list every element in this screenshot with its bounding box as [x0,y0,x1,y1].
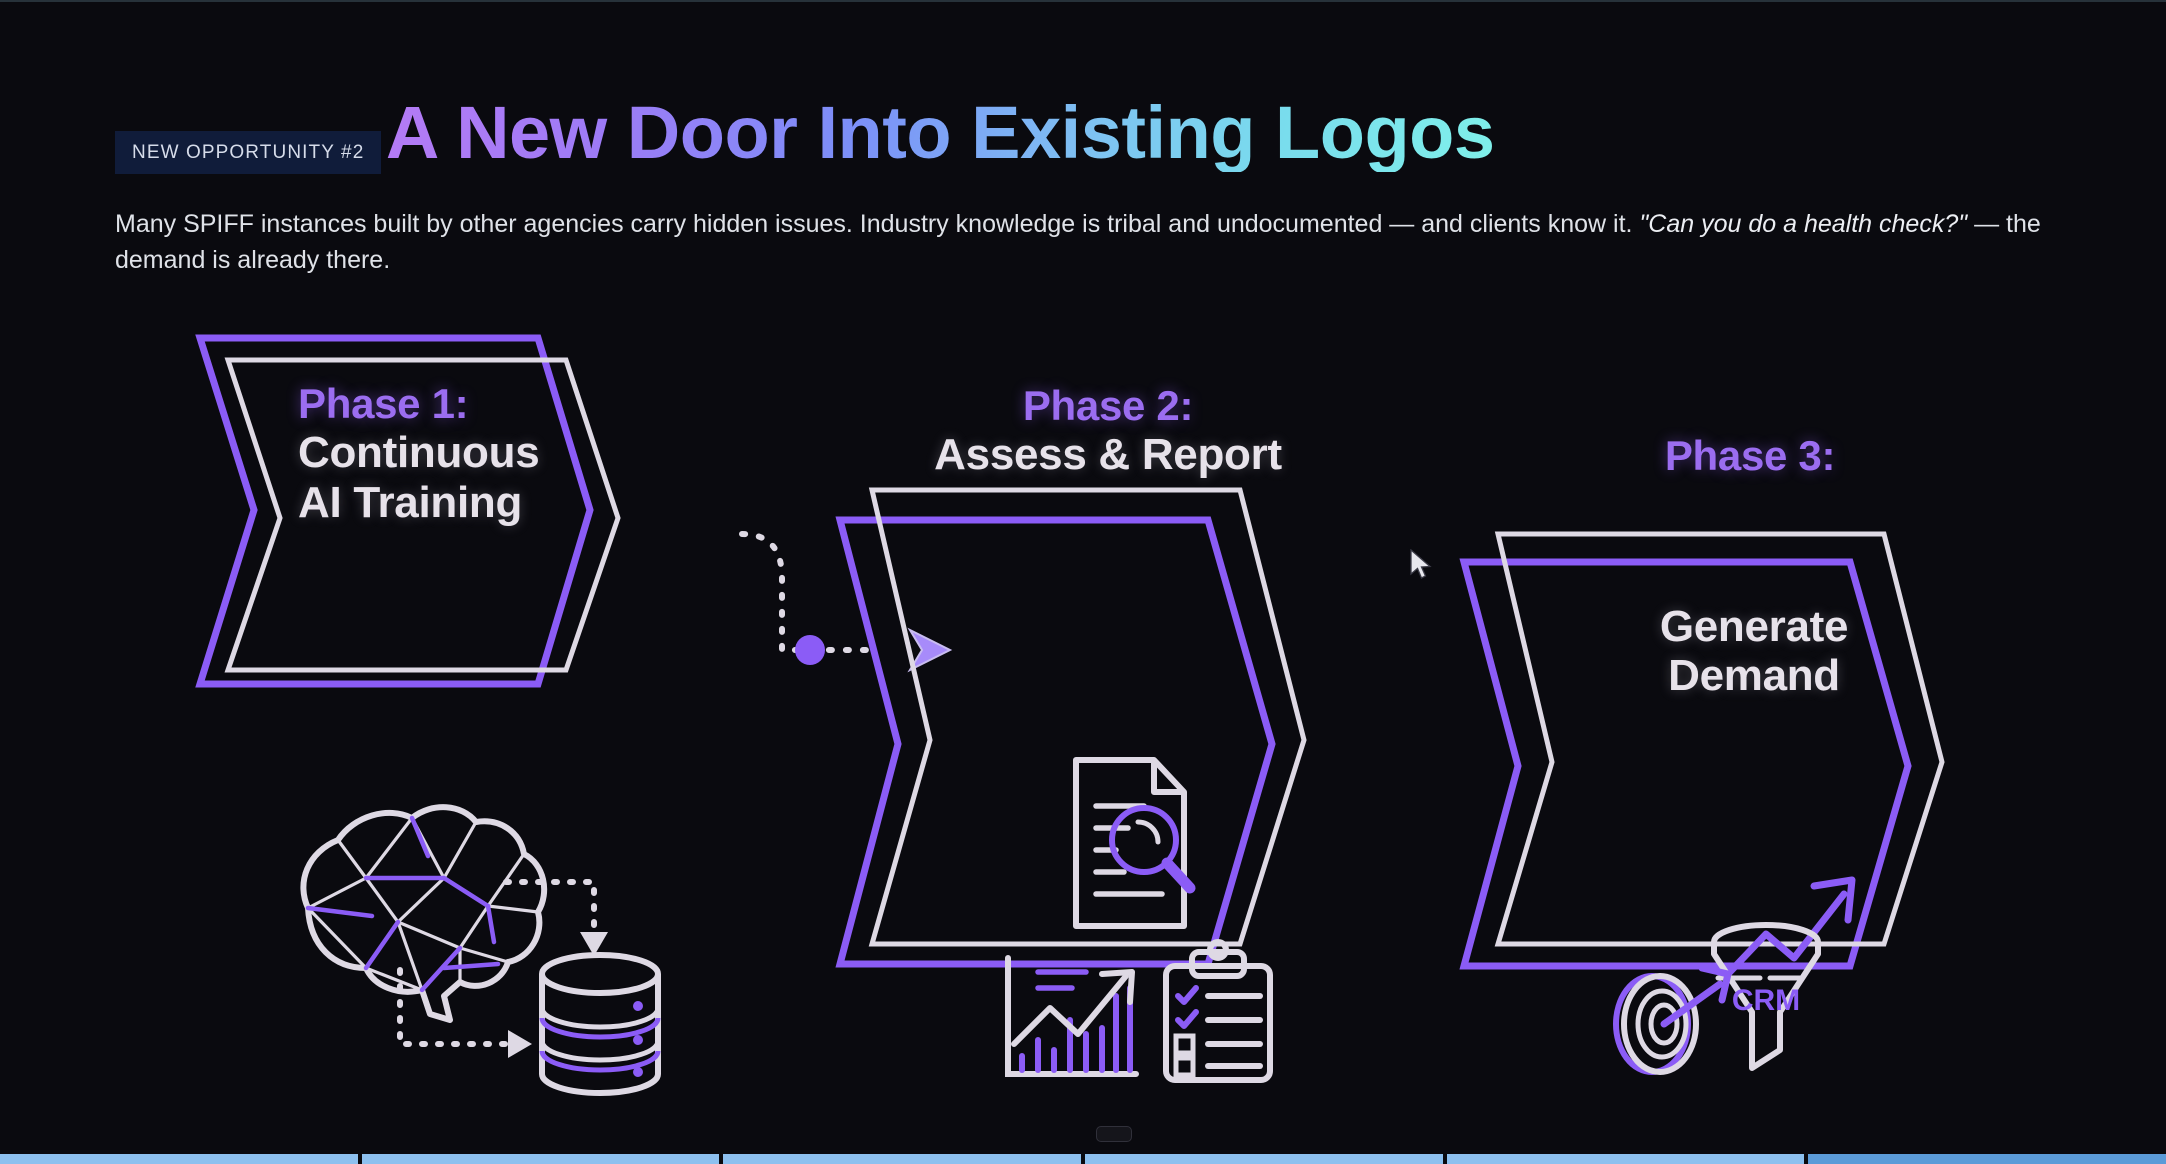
subtitle-text-1: Many SPIFF instances built by other agen… [115,210,1632,238]
process-flow-diagram: Phase 1: Continuous AI Training [0,332,2166,1162]
target-arrow-icon [1616,968,1728,1072]
database-icon [542,955,658,1093]
dotted-arrow-icon [400,882,608,1058]
slide-subtitle: Many SPIFF instances built by other agen… [115,206,2115,279]
phase-2-group[interactable]: Phase 2: Assess & Report [838,472,1458,972]
progress-segment[interactable] [1447,1154,1805,1164]
mouse-cursor [1409,549,1435,583]
funnel-label: CRM [1732,984,1800,1017]
slide-canvas: NEW OPPORTUNITY #2 A New Door Into Exist… [0,0,2166,1164]
progress-segment[interactable] [362,1154,720,1164]
opportunity-badge: NEW OPPORTUNITY #2 [115,131,381,174]
bar-chart-trend-icon [1008,958,1136,1074]
phase-3-kicker: Phase 3: [1440,432,2060,480]
phase-3-group[interactable]: Phase 3: Generate Demand [1462,514,2082,974]
progress-segment[interactable] [0,1154,358,1164]
phase-2-kicker: Phase 2: [798,382,1418,430]
progress-segment[interactable] [1085,1154,1443,1164]
progress-segment[interactable] [723,1154,1081,1164]
phase-1-group[interactable]: Phase 1: Continuous AI Training [198,332,798,692]
brain-network-icon [303,807,544,1020]
slide-header: NEW OPPORTUNITY #2 A New Door Into Exist… [115,70,2115,279]
progress-segment-active[interactable] [1808,1154,2166,1164]
phase-3-label: Phase 3: [1440,432,2060,480]
slide-progress-bar[interactable] [0,1154,2166,1164]
page-title: A New Door Into Existing Logos [386,94,1495,172]
phase-1-icon-art [262,782,682,1122]
phase-2-label: Phase 2: Assess & Report [798,382,1418,480]
subtitle-quote: "Can you do a health check?" [1639,210,1967,238]
presentation-handle[interactable] [1096,1126,1132,1142]
